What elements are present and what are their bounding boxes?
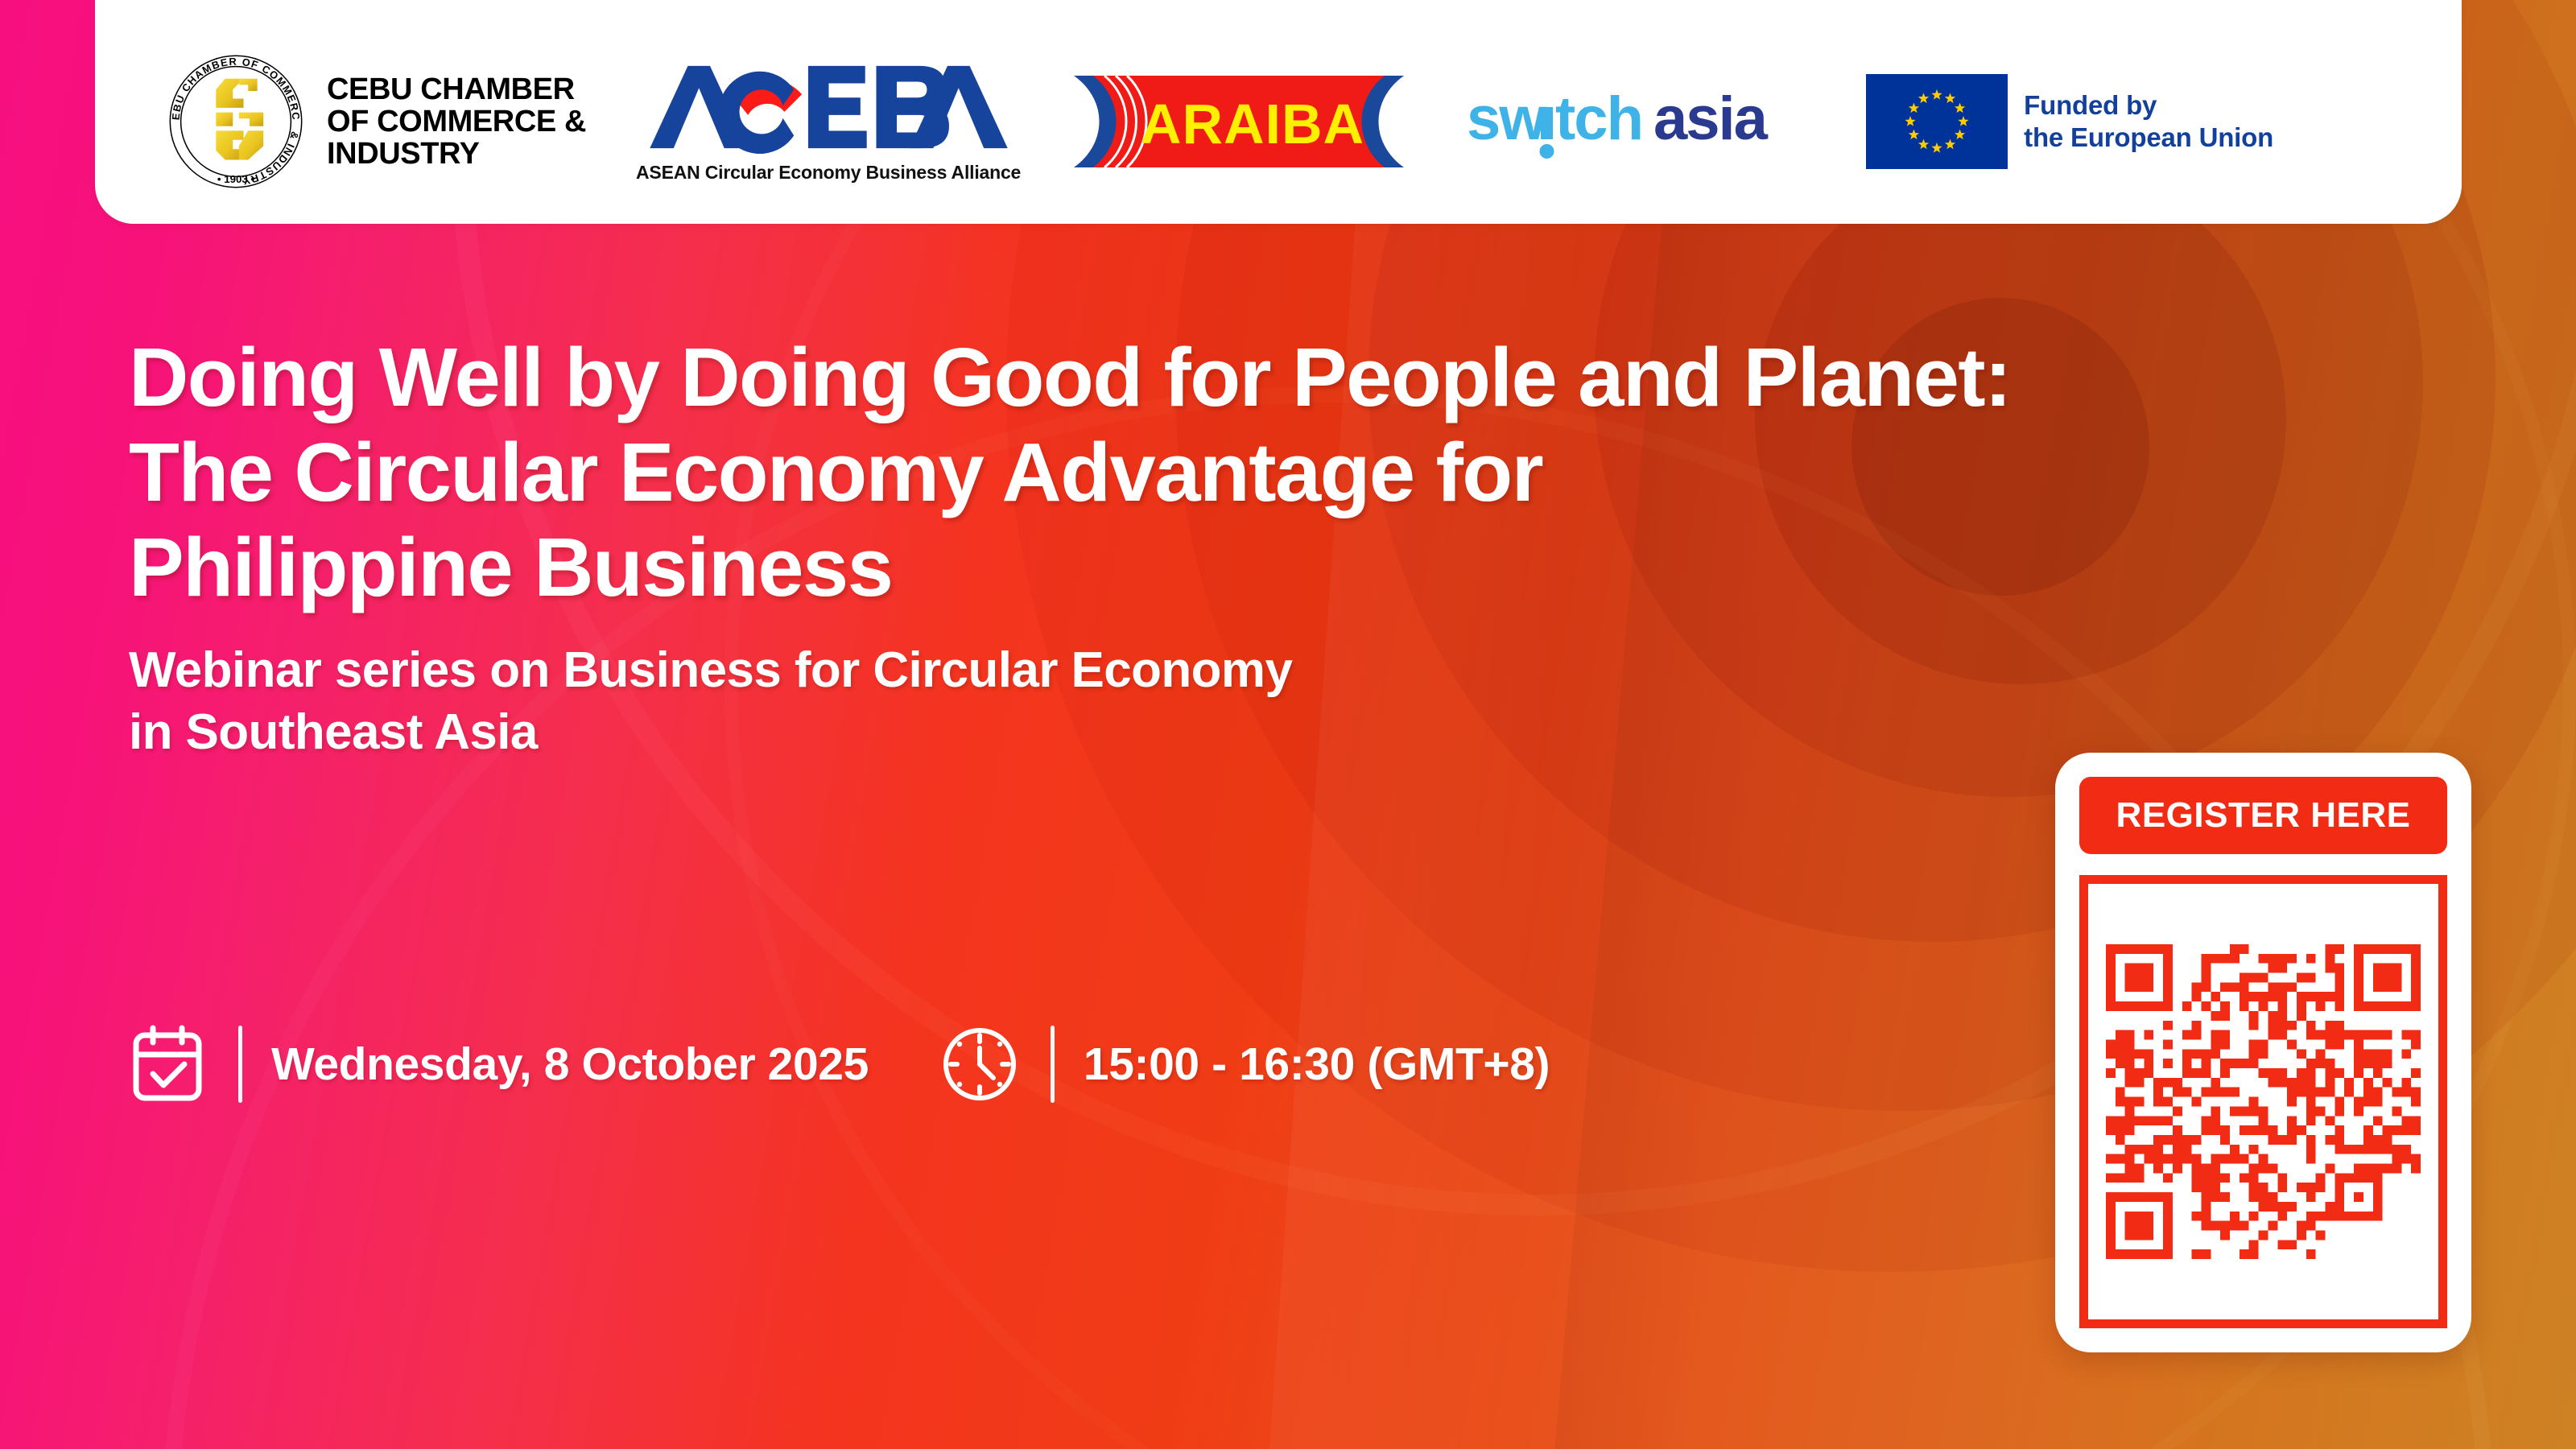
svg-text:tch: tch bbox=[1555, 85, 1642, 153]
register-card: REGISTER HERE bbox=[2055, 753, 2471, 1352]
svg-text:• 1903 •: • 1903 • bbox=[217, 173, 255, 185]
araiba-logo: ARAIBA bbox=[1066, 72, 1412, 171]
svg-text:ARAIBA: ARAIBA bbox=[1141, 93, 1364, 155]
meta-divider-1 bbox=[238, 1026, 242, 1103]
partner-logo-bar: CEBU CHAMBER OF COMMERCE & INDUSTRY • 19… bbox=[95, 0, 2462, 224]
aceba-logo: ASEAN Circular Economy Business Alliance bbox=[636, 60, 1021, 184]
ccci-logo: CEBU CHAMBER OF COMMERCE & INDUSTRY • 19… bbox=[159, 45, 586, 198]
event-date: Wednesday, 8 October 2025 bbox=[271, 1038, 869, 1091]
eu-funding-logo: Funded by the European Union bbox=[1866, 74, 2273, 169]
aceba-wordmark-icon bbox=[646, 60, 1012, 155]
switchasia-logo: sw tch asia bbox=[1467, 83, 1829, 160]
qr-code-frame bbox=[2079, 875, 2447, 1328]
event-time: 15:00 - 16:30 (GMT+8) bbox=[1084, 1038, 1550, 1091]
qr-code[interactable] bbox=[2106, 902, 2421, 1302]
title-block: Doing Well by Doing Good for People and … bbox=[129, 330, 2101, 764]
clock-icon bbox=[938, 1022, 1022, 1106]
svg-text:asia: asia bbox=[1653, 85, 1769, 153]
aceba-tagline: ASEAN Circular Economy Business Alliance bbox=[636, 162, 1021, 184]
page-title: Doing Well by Doing Good for People and … bbox=[129, 330, 2101, 615]
event-meta-row: Wednesday, 8 October 2025 bbox=[126, 1016, 1550, 1113]
svg-text:sw: sw bbox=[1467, 85, 1547, 153]
ccci-wordmark: CEBU CHAMBER OF COMMERCE & INDUSTRY bbox=[327, 73, 586, 171]
meta-divider-2 bbox=[1051, 1026, 1055, 1103]
ccci-seal-icon: CEBU CHAMBER OF COMMERCE & INDUSTRY • 19… bbox=[159, 45, 312, 198]
register-here-button[interactable]: REGISTER HERE bbox=[2079, 777, 2447, 854]
page-subtitle: Webinar series on Business for Circular … bbox=[129, 639, 2101, 764]
eu-flag-icon bbox=[1866, 74, 2008, 169]
calendar-check-icon bbox=[126, 1022, 209, 1106]
eu-funding-text: Funded by the European Union bbox=[2024, 89, 2273, 155]
